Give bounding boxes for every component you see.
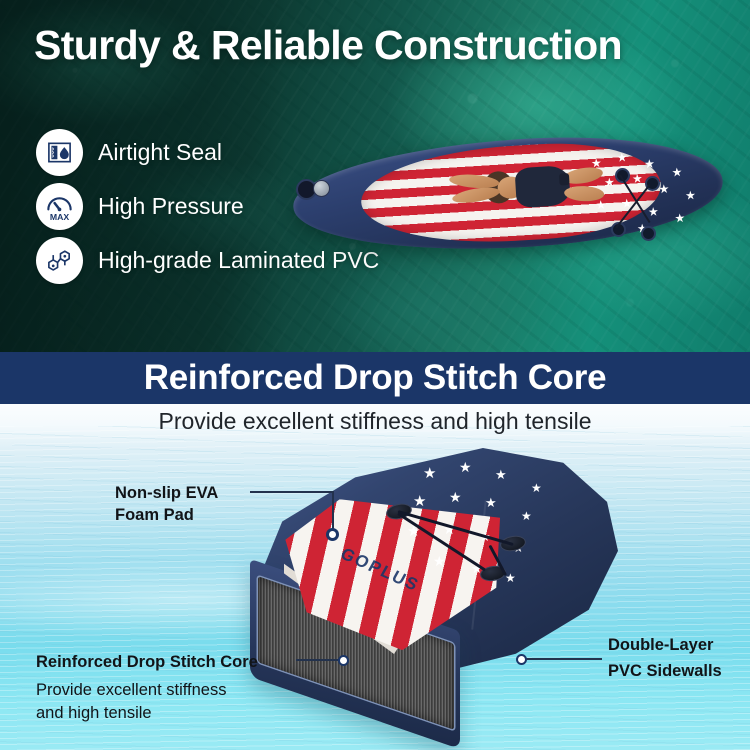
callout-marker-dot [326,528,339,541]
callout-line-2: PVC Sidewalls [608,660,722,682]
waterproof-seal-icon [36,129,83,176]
callout-line-1: Non-slip EVA [115,482,218,504]
feature-label-airtight-seal: Airtight Seal [98,139,222,166]
svg-text:MAX: MAX [50,212,70,222]
callout-marker-dot [338,655,349,666]
callout-leader-line [296,659,340,661]
callout-line-2: and high tensile [36,702,258,725]
callout-double-layer-pvc-sidewalls: Double-Layer PVC Sidewalls [608,634,722,682]
callout-line-1: Provide excellent stiffness [36,679,258,702]
top-panel-green-water: Sturdy & Reliable Construction Airtight … [0,0,750,352]
section-subtitle: Provide excellent stiffness and high ten… [0,408,750,435]
page-title: Sturdy & Reliable Construction [34,22,714,69]
callout-line-1: Double-Layer [608,634,722,656]
cutaway-paddleboard-image: GOPLUS ★ ★ ★ ★ ★ ★ ★ ★ ★ ★ ★ ★ ★ ★ ★ [228,440,648,725]
product-infographic: Sturdy & Reliable Construction Airtight … [0,0,750,750]
board-air-valve [313,180,330,197]
callout-leader-line [524,658,602,660]
aerial-paddleboard-image: ★ ★ ★ ★ ★ ★ ★ ★ ★ ★ ★ ★ ★ ★ [293,132,723,257]
pressure-gauge-max-icon: MAX [36,183,83,230]
callout-title: Reinforced Drop Stitch Core [36,651,258,673]
callout-marker-dot [516,654,527,665]
banner-title: Reinforced Drop Stitch Core [144,358,607,398]
feature-label-high-pressure: High Pressure [98,193,244,220]
callout-reinforced-drop-stitch-core: Reinforced Drop Stitch Core Provide exce… [36,651,258,725]
section-banner: Reinforced Drop Stitch Core [0,352,750,404]
callout-line-2: Foam Pad [115,504,218,526]
person-on-board [435,141,605,245]
callout-non-slip-eva-foam-pad: Non-slip EVA Foam Pad [115,482,218,526]
molecule-hexagon-icon [36,237,83,284]
callout-leader-line [250,491,334,493]
